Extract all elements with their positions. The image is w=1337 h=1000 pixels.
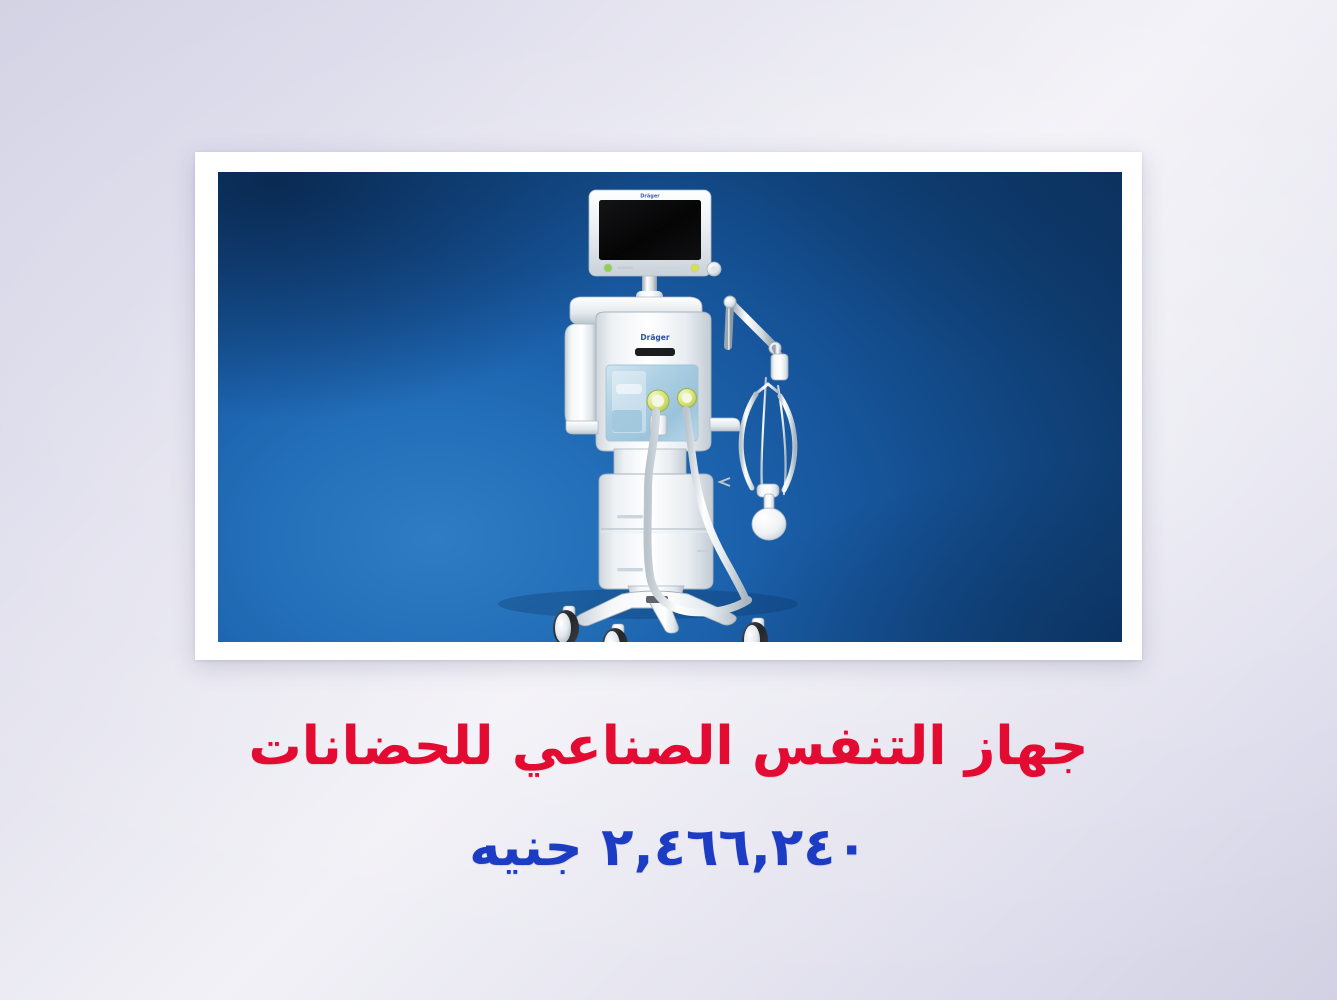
caption-block: جهاز التنفس الصناعي للحضانات ٢,٤٦٦,٢٤٠ ج…	[0, 716, 1337, 879]
ventilator-device-illustration: Dräger D	[218, 172, 1122, 642]
monitor-assembly: Dräger	[589, 190, 721, 303]
product-price: ٢,٤٦٦,٢٤٠ جنيه	[0, 817, 1337, 880]
tubing-clips	[720, 478, 730, 486]
caster-right	[742, 618, 768, 642]
svg-text:Dräger: Dräger	[640, 333, 669, 342]
product-photo-frame: Dräger D	[195, 152, 1142, 660]
slide-canvas: Dräger D	[0, 0, 1337, 1000]
support-arm	[724, 296, 788, 538]
caster-front	[602, 624, 628, 642]
product-title: جهاز التنفس الصناعي للحضانات	[0, 716, 1337, 779]
product-photo: Dräger D	[218, 172, 1122, 642]
svg-text:Dräger: Dräger	[640, 194, 660, 200]
